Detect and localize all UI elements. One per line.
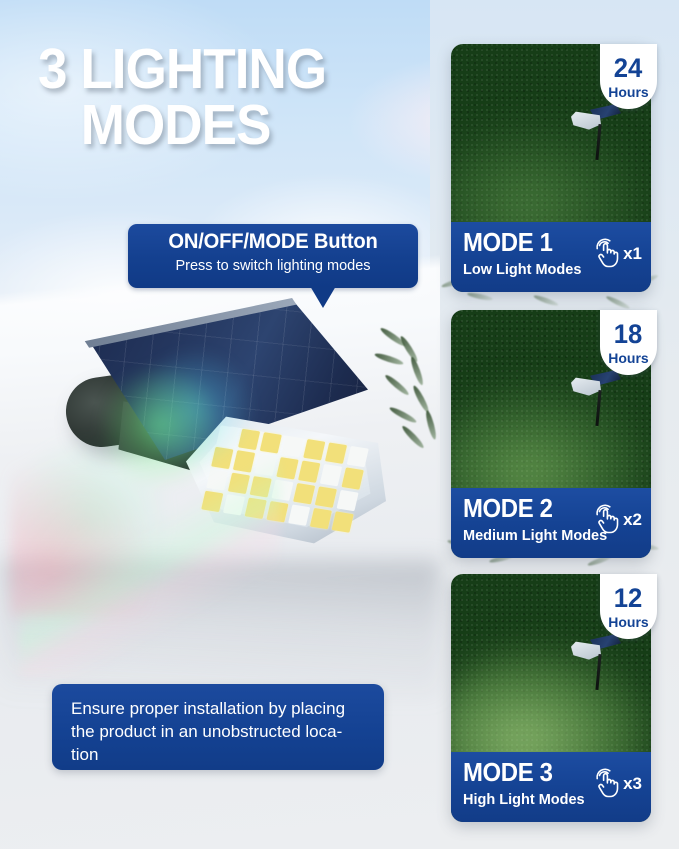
mode-card-2-footer: MODE 2 Medium Light Modes x2 [451,488,651,558]
tap-count: x3 [623,774,642,794]
duration-badge-1: 24 Hours [600,44,657,109]
mode-subtitle: Low Light Modes [463,263,581,278]
mode-subtitle: High Light Modes [463,793,585,808]
mode-card-1: 24 Hours MODE 1 Low Light Modes x1 [451,44,651,292]
mode-button-callout: ON/OFF/MODE Button Press to switch light… [128,224,418,288]
badge-unit: Hours [608,85,648,99]
headline-line-2: MODES [38,98,410,154]
tap-indicator-1: x1 [593,238,642,270]
installation-note-text: Ensure proper installation by placing th… [71,698,367,766]
tap-indicator-2: x2 [593,504,642,536]
installation-note: Ensure proper installation by placing th… [52,684,384,770]
duration-badge-2: 18 Hours [600,310,657,375]
solar-lamp [569,368,625,426]
badge-value: 12 [614,585,643,612]
hand-tap-icon [593,504,621,536]
callout-title: ON/OFF/MODE Button [134,230,412,254]
badge-value: 18 [614,321,643,348]
mode-card-3: 12 Hours MODE 3 High Light Modes x3 [451,574,651,822]
mode-subtitle: Medium Light Modes [463,529,607,544]
lamp-stake [595,124,601,160]
page-title: 3 LIGHTING MODES [38,42,410,154]
mode-title: MODE 3 [463,759,553,785]
tap-count: x2 [623,510,642,530]
callout-pointer [310,286,336,308]
lamp-stake [595,390,601,426]
headline-line-1: 3 LIGHTING [38,37,326,101]
duration-badge-3: 12 Hours [600,574,657,639]
product-infographic: 3 LIGHTING MODES ON/OFF/MODE Button Pres… [0,0,679,849]
callout-subtitle: Press to switch lighting modes [128,258,418,274]
lamp-stake [595,654,601,690]
product-photo [40,296,440,596]
mode-title: MODE 2 [463,495,553,521]
solar-lamp [569,632,625,690]
badge-value: 24 [614,55,643,82]
badge-unit: Hours [608,615,648,629]
solar-lamp [569,102,625,160]
badge-unit: Hours [608,351,648,365]
hand-tap-icon [593,768,621,800]
hand-tap-icon [593,238,621,270]
mode-card-2: 18 Hours MODE 2 Medium Light Modes x2 [451,310,651,558]
mode-title: MODE 1 [463,229,553,255]
tap-indicator-3: x3 [593,768,642,800]
mode-card-1-footer: MODE 1 Low Light Modes x1 [451,222,651,292]
mode-card-3-footer: MODE 3 High Light Modes x3 [451,752,651,822]
tap-count: x1 [623,244,642,264]
